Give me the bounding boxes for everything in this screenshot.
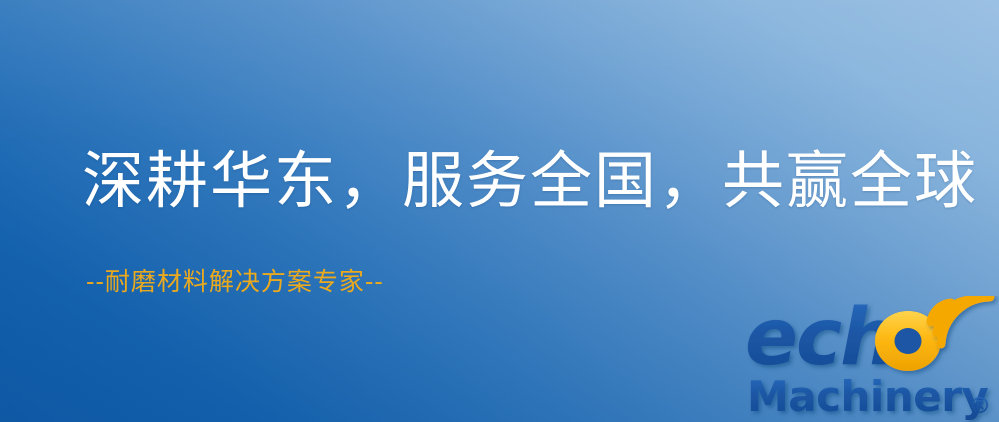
logo-wordmark-machinery: Machinery ® xyxy=(747,372,991,421)
echo-machinery-logo[interactable]: ech Machinery ® xyxy=(745,296,999,422)
echo-wave-icon xyxy=(931,297,990,344)
hero-banner: 深耕华东，服务全国，共赢全球 --耐磨材料解决方案专家-- xyxy=(0,0,999,422)
logo-text-machinery: Machinery xyxy=(747,372,988,421)
logo-trademark-symbol: ® xyxy=(969,394,991,419)
page-subtitle: --耐磨材料解决方案专家-- xyxy=(86,268,384,296)
logo-wordmark-echo: ech xyxy=(745,296,941,383)
logo-svg: ech Machinery ® xyxy=(745,296,999,422)
logo-text-ech: ech xyxy=(745,296,894,383)
page-title: 深耕华东，服务全国，共赢全球 xyxy=(82,150,978,212)
